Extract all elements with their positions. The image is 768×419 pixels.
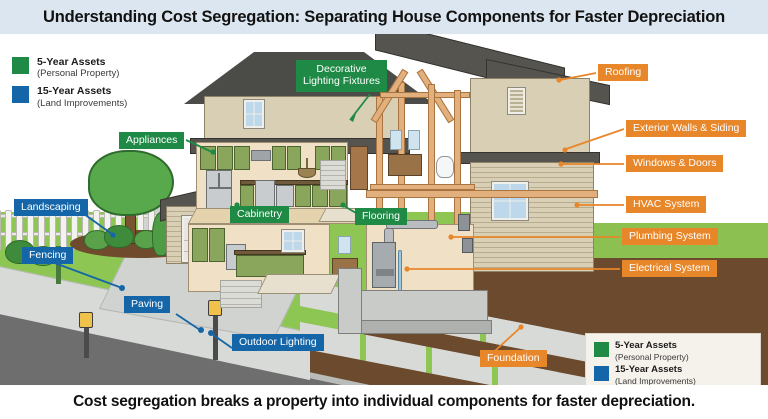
legend-item: 15-Year Assets (Land Improvements) [594, 365, 752, 385]
legend-title: 15-Year Assets [37, 85, 127, 97]
legend-title: 5-Year Assets [37, 56, 119, 68]
legend-swatch-green [594, 342, 609, 357]
callout-exterior-walls-siding[interactable]: Exterior Walls & Siding [626, 120, 746, 137]
legend-bottom-right: 5-Year Assets (Personal Property) 15-Yea… [585, 333, 761, 385]
legend-subtitle: (Land Improvements) [615, 376, 696, 385]
legend-subtitle: (Personal Property) [37, 68, 119, 79]
legend-top-left: 5-Year Assets (Personal Property) 15-Yea… [12, 56, 127, 115]
callout-landscaping[interactable]: Landscaping [14, 199, 88, 216]
legend-item: 5-Year Assets (Personal Property) [12, 56, 127, 79]
legend-title: 5-Year Assets [615, 341, 689, 352]
illustration-scene: Decorative Lighting Fixtures Appliances … [0, 34, 768, 385]
legend-item: 15-Year Assets (Land Improvements) [12, 85, 127, 108]
page-title: Understanding Cost Segregation: Separati… [43, 8, 725, 27]
callout-outdoor-lighting[interactable]: Outdoor Lighting [232, 334, 324, 351]
callout-fencing[interactable]: Fencing [22, 247, 73, 264]
callout-appliances[interactable]: Appliances [119, 132, 184, 149]
callout-electrical-system[interactable]: Electrical System [622, 260, 717, 277]
callout-cabinetry[interactable]: Cabinetry [230, 206, 289, 223]
legend-subtitle: (Personal Property) [615, 352, 689, 362]
caption-band: Cost segregation breaks a property into … [0, 385, 768, 419]
legend-item: 5-Year Assets (Personal Property) [594, 341, 752, 362]
legend-swatch-green [12, 57, 29, 74]
callout-hvac-system[interactable]: HVAC System [626, 196, 706, 213]
title-band: Understanding Cost Segregation: Separati… [0, 0, 768, 34]
legend-swatch-blue [594, 366, 609, 381]
callout-line-2: Lighting Fixtures [303, 75, 380, 87]
legend-title: 15-Year Assets [615, 365, 696, 376]
callout-plumbing-system[interactable]: Plumbing System [622, 228, 718, 245]
callout-line-1: Decorative [303, 63, 380, 75]
callout-foundation[interactable]: Foundation [480, 350, 547, 367]
legend-swatch-blue [12, 86, 29, 103]
callout-decorative-lighting-fixtures[interactable]: Decorative Lighting Fixtures [296, 60, 387, 92]
callout-windows-doors[interactable]: Windows & Doors [626, 155, 723, 172]
legend-subtitle: (Land Improvements) [37, 98, 127, 109]
callout-flooring[interactable]: Flooring [355, 208, 407, 225]
infographic-root: Understanding Cost Segregation: Separati… [0, 0, 768, 419]
callout-paving[interactable]: Paving [124, 296, 170, 313]
callout-roofing[interactable]: Roofing [598, 64, 648, 81]
caption-text: Cost segregation breaks a property into … [73, 393, 695, 411]
